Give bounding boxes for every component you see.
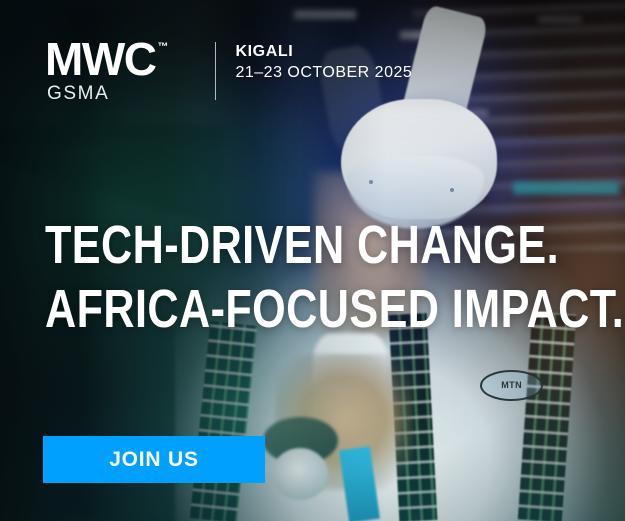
mwc-gsma-logo[interactable]: MWC ™ GSMA <box>45 38 168 105</box>
join-us-label: JOIN US <box>109 448 199 472</box>
event-details: KIGALI 21–23 OCTOBER 2025 <box>235 42 412 83</box>
join-us-button[interactable]: JOIN US <box>43 436 265 483</box>
mwc-kigali-promo-banner[interactable]: MTN MWC ™ GSMA KIGALI 21–23 OCTOBER 2025 <box>0 0 625 521</box>
mwc-wordmark-row: MWC ™ <box>45 38 168 80</box>
headline: TECH-DRIVEN CHANGE. AFRICA-FOCUSED IMPAC… <box>45 214 625 341</box>
event-dates: 21–23 OCTOBER 2025 <box>235 63 412 83</box>
headline-line-1: TECH-DRIVEN CHANGE. <box>45 214 624 278</box>
mwc-wordmark: MWC <box>45 38 155 80</box>
gsma-wordmark: GSMA <box>47 83 109 105</box>
event-city: KIGALI <box>235 42 412 62</box>
headline-line-2: AFRICA-FOCUSED IMPACT. <box>45 278 624 342</box>
header-divider <box>215 42 216 100</box>
banner-content: MWC ™ GSMA KIGALI 21–23 OCTOBER 2025 TEC… <box>0 0 625 521</box>
trademark-icon: ™ <box>157 41 168 53</box>
banner-header: MWC ™ GSMA KIGALI 21–23 OCTOBER 2025 <box>45 38 412 105</box>
